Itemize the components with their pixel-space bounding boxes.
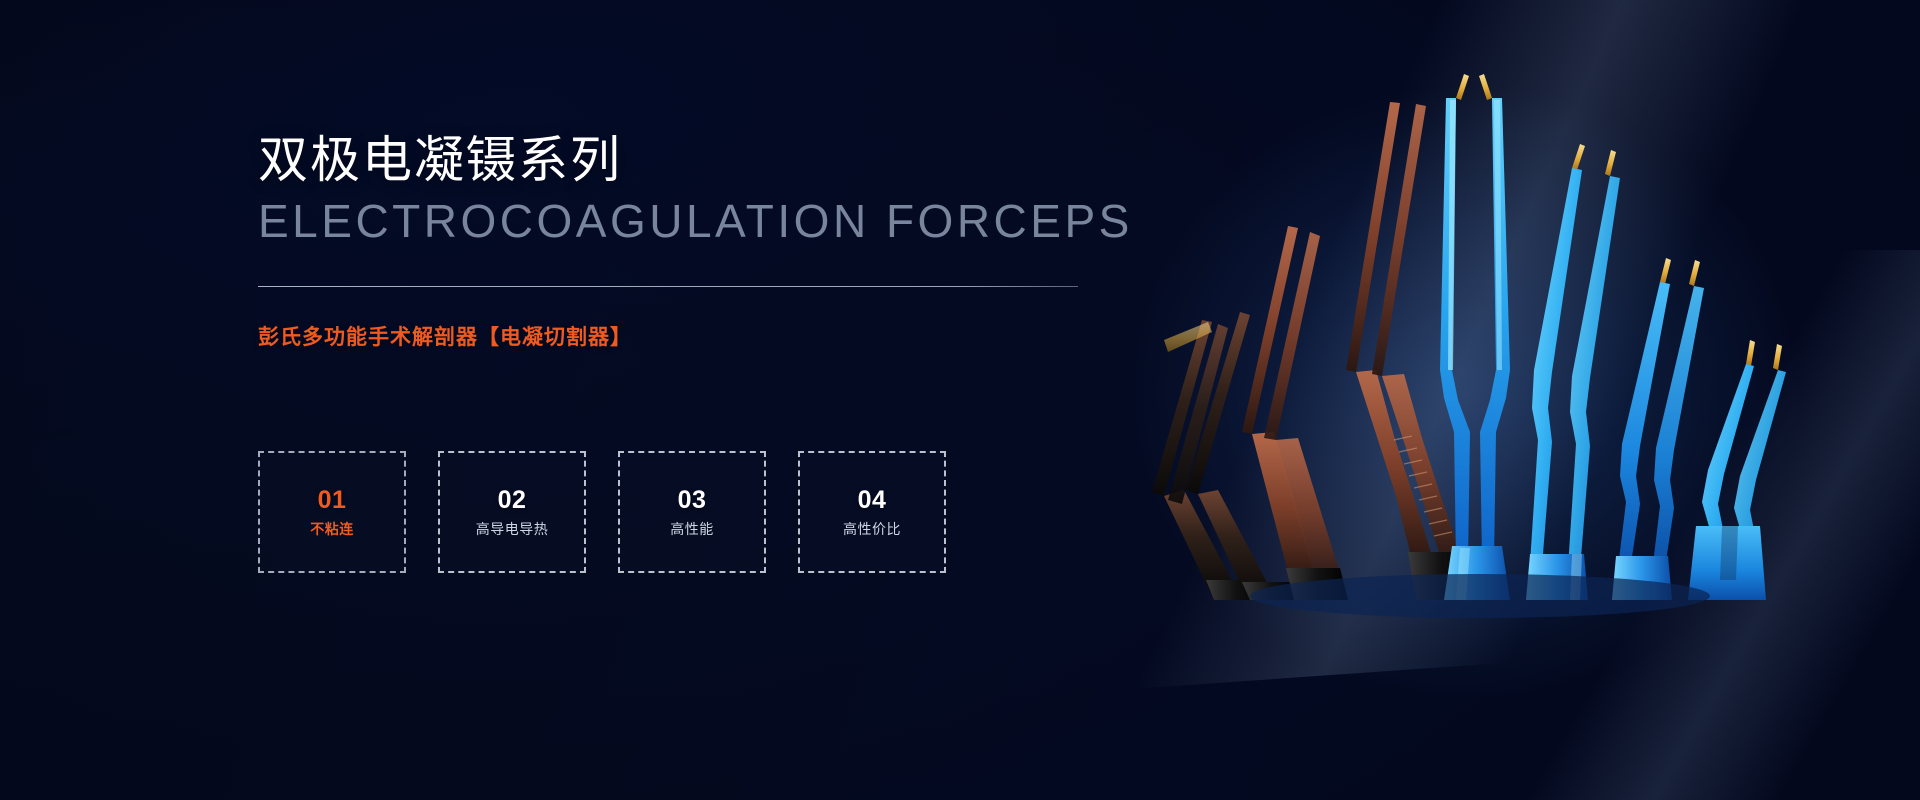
page-title: 双极电凝镊系列: [258, 132, 1158, 190]
feature-box-02[interactable]: 02 高导电导热: [438, 451, 586, 573]
feature-box-03[interactable]: 03 高性能: [618, 451, 766, 573]
feature-label: 高性能: [670, 522, 714, 536]
hero-text-block: 双极电凝镊系列 ELECTROCOAGULATION FORCEPS 彭氏多功能…: [258, 132, 1158, 351]
feature-box-01[interactable]: 01 不粘连: [258, 451, 406, 573]
feature-box-04[interactable]: 04 高性价比: [798, 451, 946, 573]
feature-number: 03: [678, 488, 707, 513]
feature-label: 高导电导热: [476, 522, 549, 536]
page-subtitle-english: ELECTROCOAGULATION FORCEPS: [258, 196, 1158, 247]
feature-box-list: 01 不粘连 02 高导电导热 03 高性能 04 高性价比: [258, 451, 946, 573]
feature-label: 不粘连: [310, 522, 354, 536]
banner-hero: 双极电凝镊系列 ELECTROCOAGULATION FORCEPS 彭氏多功能…: [0, 0, 1920, 800]
product-tagline: 彭氏多功能手术解剖器【电凝切割器】: [258, 321, 1158, 351]
divider: [258, 286, 1078, 287]
feature-label: 高性价比: [843, 522, 901, 536]
feature-number: 04: [858, 488, 887, 513]
feature-number: 01: [318, 488, 347, 513]
background-navy-gradient: [0, 0, 1920, 800]
feature-number: 02: [498, 488, 527, 513]
